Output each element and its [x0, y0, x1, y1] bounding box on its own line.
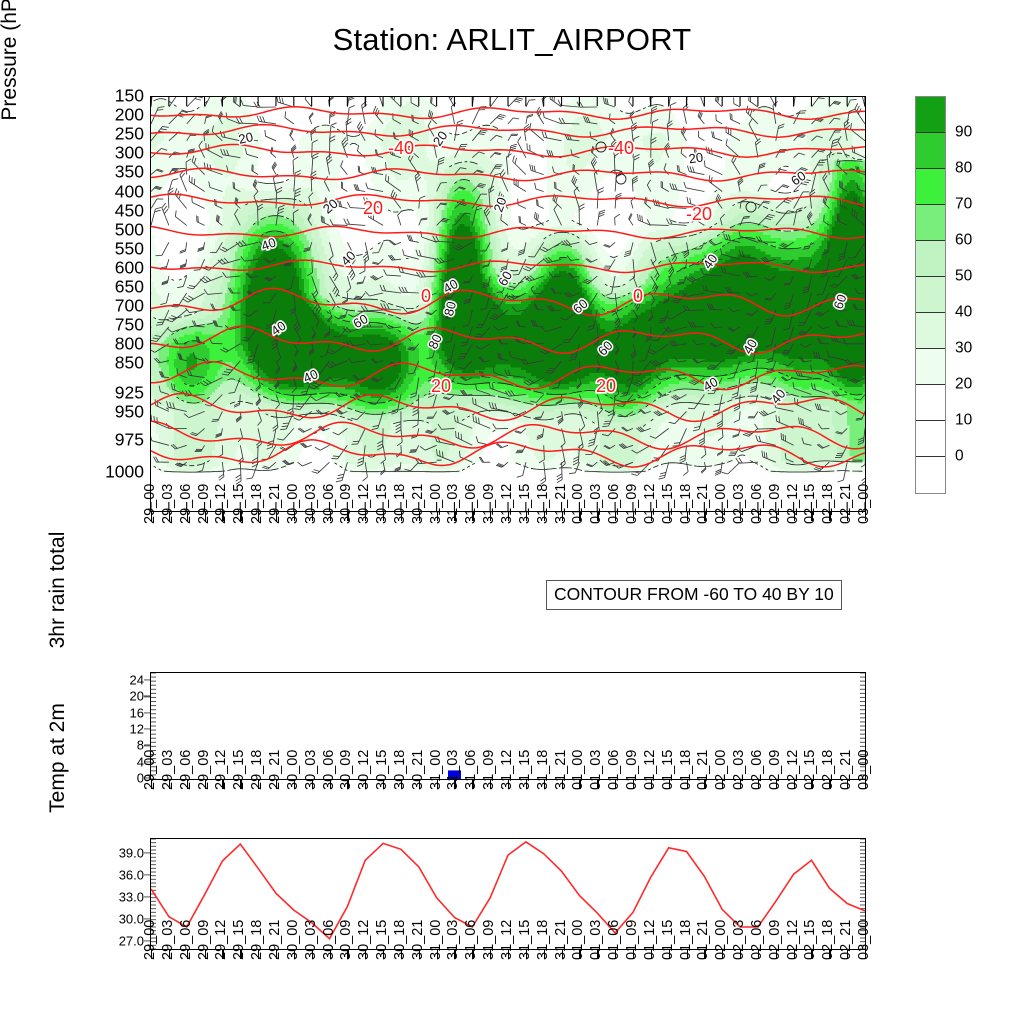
x-tick-label: 31_09 — [482, 920, 497, 960]
x-tick-label: 29_03 — [161, 920, 176, 960]
x-tick-label: 01_06 — [607, 920, 622, 960]
x-tick-label: 02_03 — [732, 484, 747, 524]
x-tick-label: 31_09 — [482, 750, 497, 790]
meteogram-page: Station: ARLIT_AIRPORT Pressure (hPa) 15… — [0, 0, 1024, 1024]
x-tick-label: 01_21 — [696, 920, 711, 960]
pressure-tick-label: 750 — [115, 316, 144, 334]
x-tick-label: 01_00 — [571, 484, 586, 524]
x-tick-label: 29_06 — [178, 750, 193, 790]
x-tick-label: 02_00 — [714, 920, 729, 960]
x-tick-label: 01_18 — [678, 750, 693, 790]
x-tick-label: 02_09 — [768, 750, 783, 790]
pressure-tick-label: 250 — [115, 125, 144, 143]
pressure-tick-label: 925 — [115, 384, 144, 402]
x-tick-label: 01_09 — [625, 484, 640, 524]
x-tick-label: 31_12 — [500, 920, 515, 960]
x-tick-label: 02_21 — [839, 920, 854, 960]
x-tick-label: 01_00 — [571, 750, 586, 790]
pressure-tick-label: 800 — [115, 336, 144, 354]
x-tick-label: 29_12 — [214, 920, 229, 960]
x-tick-label: 30_18 — [393, 484, 408, 524]
x-tick-label: 02_12 — [785, 920, 800, 960]
x-tick-label: 02_18 — [821, 920, 836, 960]
x-tick-label: 01_00 — [571, 920, 586, 960]
x-tick-label: 02_15 — [803, 750, 818, 790]
x-tick-label: 30_09 — [339, 484, 354, 524]
x-tick-label: 30_15 — [375, 484, 390, 524]
x-tick-label: 02_12 — [785, 484, 800, 524]
x-tick-label: 30_09 — [339, 920, 354, 960]
colorbar-label: 0 — [955, 448, 964, 464]
colorbar-band — [916, 97, 945, 133]
x-tick-label: 02_18 — [821, 484, 836, 524]
x-tick-label: 30_06 — [321, 750, 336, 790]
pressure-tick-label: 600 — [115, 259, 144, 277]
x-tick-label: 30_21 — [411, 750, 426, 790]
x-tick-label: 31_18 — [535, 920, 550, 960]
x-tick-label: 31_06 — [464, 920, 479, 960]
x-tick-label: 02_06 — [750, 750, 765, 790]
x-tick-label: 01_12 — [643, 484, 658, 524]
x-tick-label: 02_18 — [821, 750, 836, 790]
x-tick-label: 30_18 — [393, 750, 408, 790]
colorbar-label: 80 — [955, 160, 972, 176]
x-tick-label: 29_09 — [196, 920, 211, 960]
x-tick-label: 01_06 — [607, 750, 622, 790]
x-tick-label: 31_21 — [553, 920, 568, 960]
x-tick-label: 30_03 — [303, 750, 318, 790]
x-tick-label: 30_06 — [321, 484, 336, 524]
rain-axis-labels: 04812162024 — [100, 666, 144, 786]
pressure-tick-label: 950 — [115, 403, 144, 421]
pressure-axis-labels: 1502002503003504004505005506006507007508… — [60, 88, 144, 512]
x-tick-label: 01_09 — [625, 920, 640, 960]
colorbar-band — [916, 277, 945, 313]
x-tick-label: 02_21 — [839, 750, 854, 790]
pressure-tick-label: 500 — [115, 221, 144, 239]
x-tick-label: 02_03 — [732, 920, 747, 960]
x-tick-label: 31_00 — [428, 920, 443, 960]
x-tick-label: 31_03 — [446, 484, 461, 524]
x-tick-label: 29_06 — [178, 484, 193, 524]
cross-section-plot-area: -40-40-40-402020-20-20000020202020202020… — [151, 97, 865, 511]
x-tick-label: 02_03 — [732, 750, 747, 790]
temp-tick-label: 33.0 — [119, 890, 144, 903]
colorbar-label: 30 — [955, 340, 972, 356]
x-tick-label: 29_15 — [232, 484, 247, 524]
x-tick-label: 31_09 — [482, 484, 497, 524]
x-tick-label: 02_09 — [768, 484, 783, 524]
x-tick-label: 29_21 — [268, 484, 283, 524]
x-tick-label: 29_00 — [143, 750, 158, 790]
x-tick-label: 01_09 — [625, 750, 640, 790]
pressure-tick-label: 200 — [115, 106, 144, 124]
temp-axis-title: Temp at 2m — [46, 688, 70, 828]
rain-tick-label: 20 — [130, 690, 144, 703]
x-tick-label: 29_00 — [143, 484, 158, 524]
x-tick-label: 30_12 — [357, 920, 372, 960]
x-tick-label: 01_21 — [696, 750, 711, 790]
x-tick-label: 02_06 — [750, 484, 765, 524]
x-tick-label: 02_15 — [803, 484, 818, 524]
colorbar-label: 60 — [955, 232, 972, 248]
x-tick-label: 01_03 — [589, 484, 604, 524]
x-tick-label: 29_18 — [250, 484, 265, 524]
x-tick-label: 31_21 — [553, 484, 568, 524]
colorbar-label: 50 — [955, 268, 972, 284]
temp-tick-label: 30.0 — [119, 912, 144, 925]
x-tick-label: 01_12 — [643, 920, 658, 960]
x-tick-label: 29_06 — [178, 920, 193, 960]
colorbar-band — [916, 313, 945, 349]
colorbar-band — [916, 205, 945, 241]
pressure-tick-label: 350 — [115, 164, 144, 182]
x-tick-label: 31_18 — [535, 484, 550, 524]
contour-range-note: CONTOUR FROM -60 TO 40 BY 10 — [546, 580, 842, 610]
pressure-tick-label: 975 — [115, 432, 144, 450]
x-tick-label: 30_00 — [286, 750, 301, 790]
x-tick-label: 01_06 — [607, 484, 622, 524]
x-tick-label: 30_18 — [393, 920, 408, 960]
x-tick-label: 30_12 — [357, 750, 372, 790]
page-title: Station: ARLIT_AIRPORT — [0, 22, 1024, 58]
rain-tick-label: 24 — [130, 674, 144, 687]
x-tick-label: 01_03 — [589, 750, 604, 790]
humidity-colorbar-labels: 9080706050403020100 — [955, 96, 1005, 494]
colorbar-label: 40 — [955, 304, 972, 320]
x-tick-label: 31_15 — [518, 750, 533, 790]
x-tick-label: 29_15 — [232, 750, 247, 790]
x-tick-label: 29_00 — [143, 920, 158, 960]
x-tick-label: 29_12 — [214, 484, 229, 524]
rain-tick-label: 16 — [130, 706, 144, 719]
colorbar-band — [916, 241, 945, 277]
pressure-axis-title: Pressure (hPa) — [0, 0, 22, 180]
x-tick-label: 29_18 — [250, 750, 265, 790]
x-tick-label: 02_06 — [750, 920, 765, 960]
x-tick-label: 03_00 — [857, 920, 872, 960]
x-tick-label: 30_09 — [339, 750, 354, 790]
x-tick-label: 29_03 — [161, 484, 176, 524]
x-tick-label: 01_15 — [660, 750, 675, 790]
x-tick-label: 30_15 — [375, 750, 390, 790]
x-tick-label: 29_09 — [196, 750, 211, 790]
colorbar-band — [916, 133, 945, 169]
pressure-tick-label: 850 — [115, 355, 144, 373]
x-tick-label: 31_21 — [553, 750, 568, 790]
pressure-tick-label: 400 — [115, 183, 144, 201]
colorbar-band — [916, 169, 945, 205]
pressure-tick-label: 700 — [115, 297, 144, 315]
x-tick-label: 31_00 — [428, 484, 443, 524]
x-tick-label: 31_15 — [518, 484, 533, 524]
x-tick-label: 30_12 — [357, 484, 372, 524]
rain-axis-title: 3hr rain total — [46, 520, 70, 660]
colorbar-band — [916, 349, 945, 385]
x-tick-label: 30_00 — [286, 920, 301, 960]
x-tick-label: 29_03 — [161, 750, 176, 790]
x-tick-label: 02_09 — [768, 920, 783, 960]
rain-tick-label: 12 — [130, 723, 144, 736]
colorbar-band — [916, 457, 945, 493]
humidity-colorbar — [915, 96, 946, 494]
x-tick-label: 30_21 — [411, 484, 426, 524]
temp-tick-label: 27.0 — [119, 934, 144, 947]
x-tick-label: 30_00 — [286, 484, 301, 524]
x-tick-label: 02_21 — [839, 484, 854, 524]
x-tick-label: 01_12 — [643, 750, 658, 790]
x-tick-label: 30_06 — [321, 920, 336, 960]
pressure-tick-label: 550 — [115, 240, 144, 258]
x-tick-label: 31_06 — [464, 484, 479, 524]
x-tick-label: 02_12 — [785, 750, 800, 790]
x-tick-label: 01_15 — [660, 484, 675, 524]
x-tick-label: 02_00 — [714, 484, 729, 524]
x-tick-label: 31_12 — [500, 484, 515, 524]
colorbar-label: 90 — [955, 124, 972, 140]
x-tick-label: 31_03 — [446, 920, 461, 960]
x-tick-label: 31_12 — [500, 750, 515, 790]
x-tick-label: 02_00 — [714, 750, 729, 790]
x-tick-label: 29_15 — [232, 920, 247, 960]
x-tick-label: 31_18 — [535, 750, 550, 790]
x-tick-label: 29_09 — [196, 484, 211, 524]
x-tick-label: 01_21 — [696, 484, 711, 524]
cross-section-svg: -40-40-40-402020-20-20000020202020202020… — [151, 97, 865, 511]
pressure-tick-label: 450 — [115, 202, 144, 220]
x-tick-label: 01_15 — [660, 920, 675, 960]
x-tick-label: 31_15 — [518, 920, 533, 960]
x-tick-label: 30_03 — [303, 484, 318, 524]
x-tick-label: 29_18 — [250, 920, 265, 960]
x-tick-label: 30_21 — [411, 920, 426, 960]
colorbar-label: 70 — [955, 196, 972, 212]
colorbar-label: 10 — [955, 412, 972, 428]
x-tick-label: 29_21 — [268, 920, 283, 960]
temp-axis-labels: 27.030.033.036.039.0 — [90, 832, 144, 956]
temp-tick-label: 39.0 — [119, 846, 144, 859]
x-tick-label: 31_03 — [446, 750, 461, 790]
pressure-tick-label: 1000 — [105, 463, 144, 481]
pressure-tick-label: 150 — [115, 87, 144, 105]
x-tick-label: 29_21 — [268, 750, 283, 790]
x-tick-label: 31_06 — [464, 750, 479, 790]
pressure-tick-label: 650 — [115, 278, 144, 296]
colorbar-band — [916, 385, 945, 421]
x-tick-label: 01_18 — [678, 484, 693, 524]
pressure-tick-label: 300 — [115, 145, 144, 163]
colorbar-band — [916, 421, 945, 457]
temp-x-labels: 29_0029_0329_0629_0929_1229_1529_1829_21… — [150, 960, 866, 1030]
x-tick-label: 01_18 — [678, 920, 693, 960]
x-tick-label: 02_15 — [803, 920, 818, 960]
cross-section-panel: -40-40-40-402020-20-20000020202020202020… — [150, 96, 866, 512]
x-tick-label: 30_03 — [303, 920, 318, 960]
temp-tick-label: 36.0 — [119, 868, 144, 881]
x-tick-label: 03_00 — [857, 484, 872, 524]
x-tick-label: 29_12 — [214, 750, 229, 790]
x-tick-label: 30_15 — [375, 920, 390, 960]
colorbar-label: 20 — [955, 376, 972, 392]
x-tick-label: 03_00 — [857, 750, 872, 790]
x-tick-label: 01_03 — [589, 920, 604, 960]
x-tick-label: 31_00 — [428, 750, 443, 790]
